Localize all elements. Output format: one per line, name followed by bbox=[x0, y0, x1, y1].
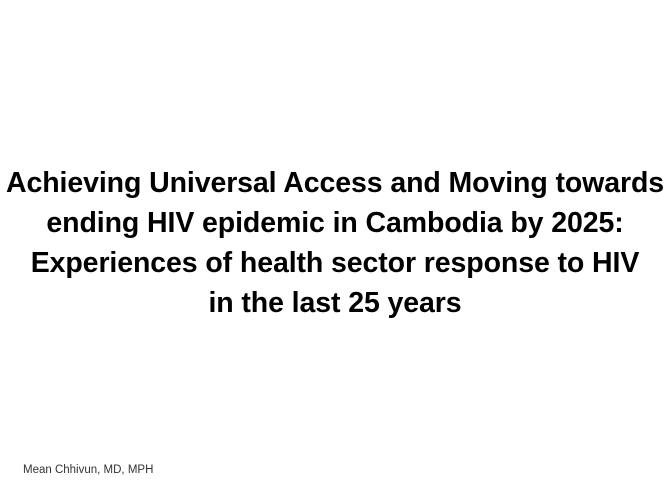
title-line-1: Achieving Universal Access and Moving to… bbox=[0, 163, 670, 203]
title-line-3: Experiences of health sector response to… bbox=[0, 243, 670, 283]
title-line-2: ending HIV epidemic in Cambodia by 2025: bbox=[0, 203, 670, 243]
slide-author: Mean Chhivun, MD, MPH bbox=[23, 463, 153, 477]
author-name-credentials: Mean Chhivun, MD, MPH bbox=[23, 463, 153, 477]
title-line-4: in the last 25 years bbox=[0, 283, 670, 323]
slide-title: Achieving Universal Access and Moving to… bbox=[0, 163, 670, 323]
presentation-title-slide: Achieving Universal Access and Moving to… bbox=[0, 0, 670, 503]
